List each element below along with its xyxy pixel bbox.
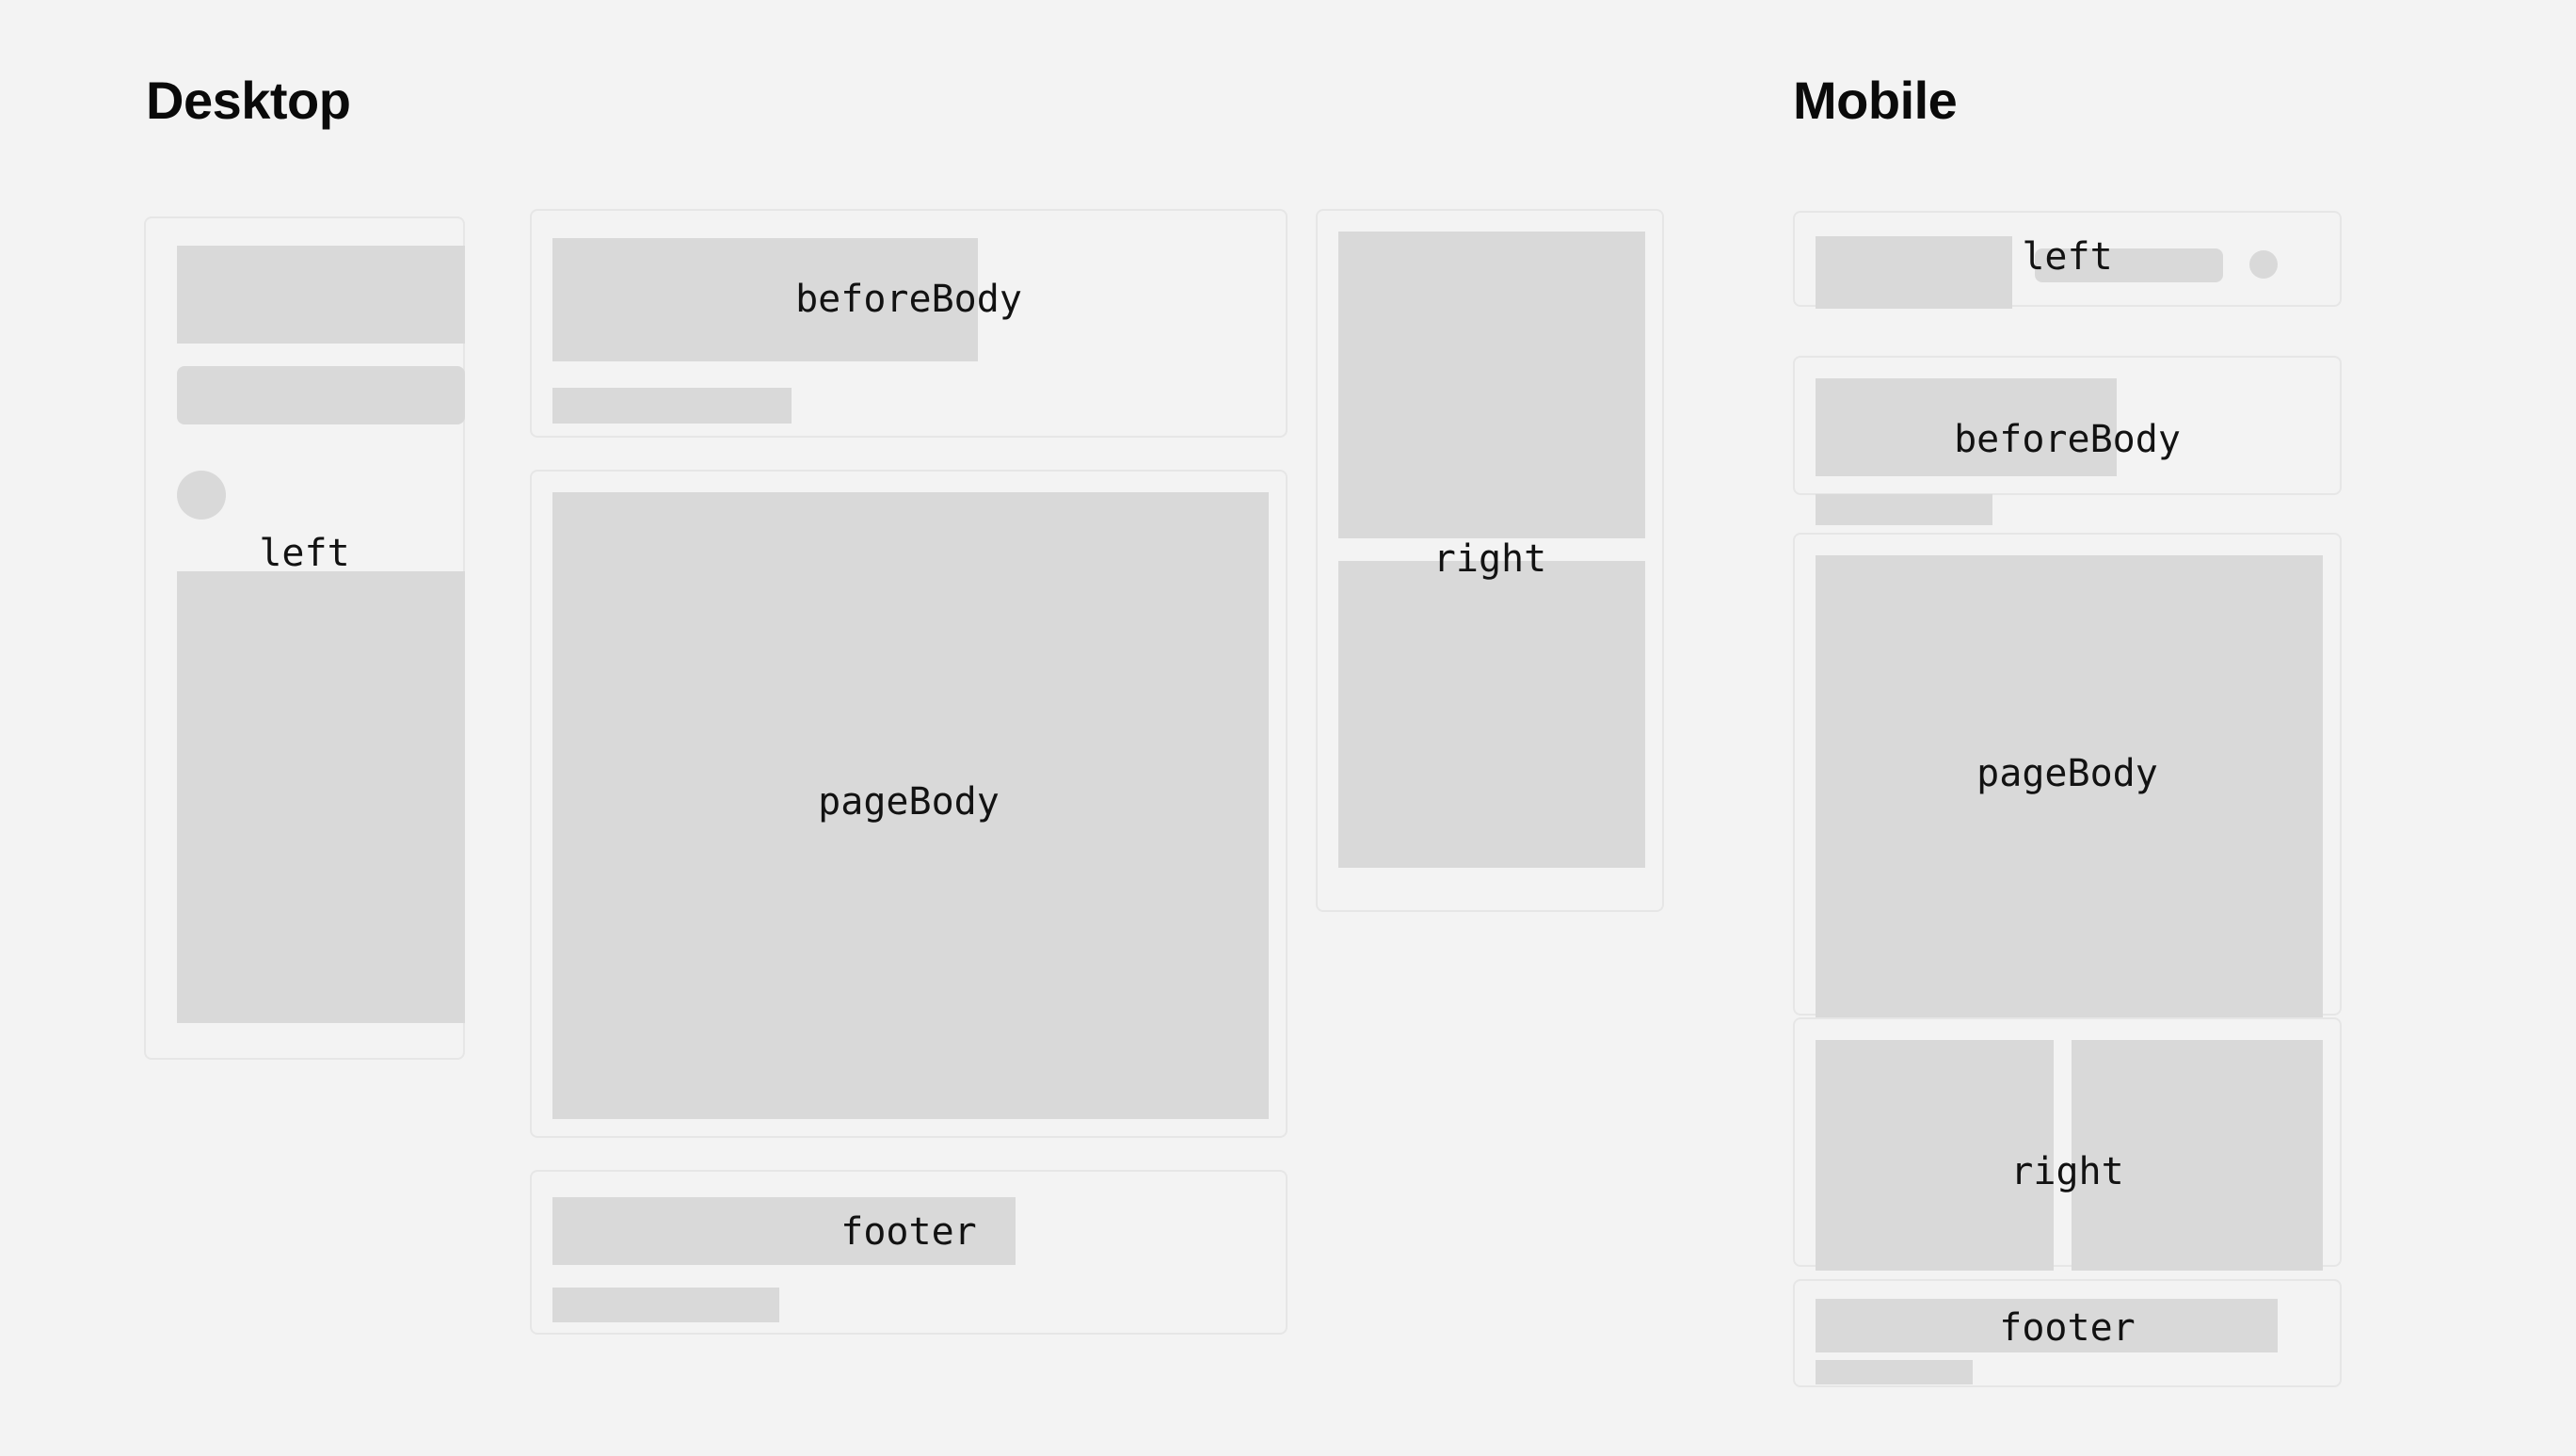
desktop-beforebody-card[interactable] [530,209,1288,438]
mobile-right-card[interactable] [1793,1017,2342,1267]
mobile-footer-block-2 [1816,1360,1973,1384]
mobile-section-heading: Mobile [1793,74,1957,127]
mobile-left-block-1 [1816,236,2012,309]
desktop-left-card[interactable] [144,216,465,1060]
mobile-pagebody-card[interactable] [1793,533,2342,1016]
desktop-section-heading: Desktop [146,74,350,127]
desktop-right-block-2 [1338,561,1645,868]
mobile-beforebody-card[interactable] [1793,356,2342,495]
desktop-footer-block-2 [552,1288,779,1322]
mobile-left-block-2 [2035,248,2223,282]
desktop-beforebody-block-1 [552,238,978,361]
mobile-beforebody-block-2 [1816,494,1992,525]
desktop-left-avatar [177,471,226,520]
layout-preview-stage: Desktop left beforeBody pageBody footer … [0,0,2576,1456]
mobile-right-block-1 [1816,1040,2054,1271]
desktop-footer-card[interactable] [530,1170,1288,1335]
desktop-footer-block-1 [552,1197,1016,1265]
desktop-right-block-1 [1338,232,1645,538]
desktop-left-block-2 [177,366,465,424]
desktop-left-block-4 [177,571,465,1023]
desktop-pagebody-card[interactable] [530,470,1288,1138]
mobile-beforebody-block-1 [1816,378,2117,476]
desktop-right-card[interactable] [1316,209,1664,912]
desktop-beforebody-block-2 [552,388,792,424]
mobile-left-avatar [2249,250,2278,279]
mobile-right-block-2 [2072,1040,2323,1271]
desktop-left-block-1 [177,246,465,344]
mobile-pagebody-block-1 [1816,555,2323,1023]
mobile-footer-card[interactable] [1793,1279,2342,1387]
mobile-footer-block-1 [1816,1299,2278,1352]
desktop-pagebody-block-1 [552,492,1269,1119]
mobile-left-card[interactable] [1793,211,2342,307]
